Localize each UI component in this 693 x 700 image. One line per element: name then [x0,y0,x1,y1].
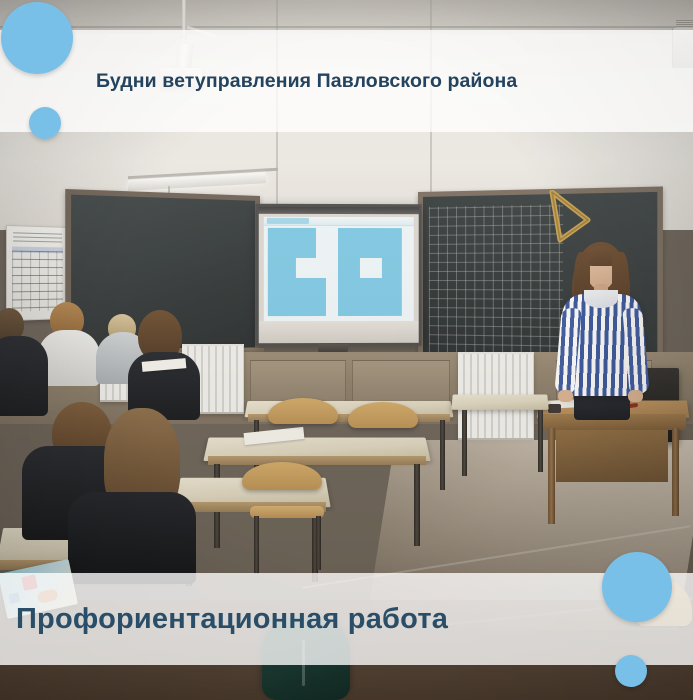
top-title-banner: Будни ветуправления Павловского района [0,30,693,132]
chair-leg [254,516,259,574]
desk-leg [538,410,543,472]
chalkboard-grid-lines [429,204,563,356]
slide-app-tab [267,218,309,224]
chair-leg [316,516,321,570]
poster-title-lines [13,232,62,244]
teacher-hand-left [558,390,573,402]
teacher-desk-leg-right [672,428,679,516]
desk-leg [440,420,445,490]
teacher-shirt-collar [584,290,618,308]
slide-block-7 [382,228,402,316]
desk-leg [414,464,420,546]
circle-bottom-right-small [615,655,647,687]
teacher-figure [556,238,646,414]
circle-top-left-small [29,107,61,139]
whiteboard-lower-panel [259,321,419,343]
teacher-desk-leg-left [548,428,555,524]
circle-top-left-large [1,2,73,74]
bottom-title-banner: Профориентационная работа [0,573,693,665]
desk-edge [208,456,426,465]
interactive-whiteboard [256,204,422,346]
ceiling-seam [0,26,693,28]
desk-leg [462,410,467,476]
slide-block-2 [268,278,326,316]
social-media-photo-card: Будни ветуправления Павловского района П… [0,0,693,700]
poster-table-grid [12,251,63,312]
ceiling [0,0,693,34]
whiteboard-top-bar [259,207,419,214]
slide-block-3 [294,228,316,258]
chair-seat [250,506,324,518]
slide-block-5 [338,278,388,316]
slide-app-titlebar [264,217,414,226]
circle-bottom-right-large [602,552,672,622]
desk-top [451,394,548,409]
student-body [0,336,48,416]
top-banner-title: Будни ветуправления Павловского района [96,70,517,93]
slide-background [264,226,414,323]
teacher-hand-right [628,390,643,402]
teacher-desk-panel [556,430,668,482]
bottom-banner-title: Профориентационная работа [16,603,448,636]
projected-slide [264,217,414,323]
student-body [68,492,196,584]
